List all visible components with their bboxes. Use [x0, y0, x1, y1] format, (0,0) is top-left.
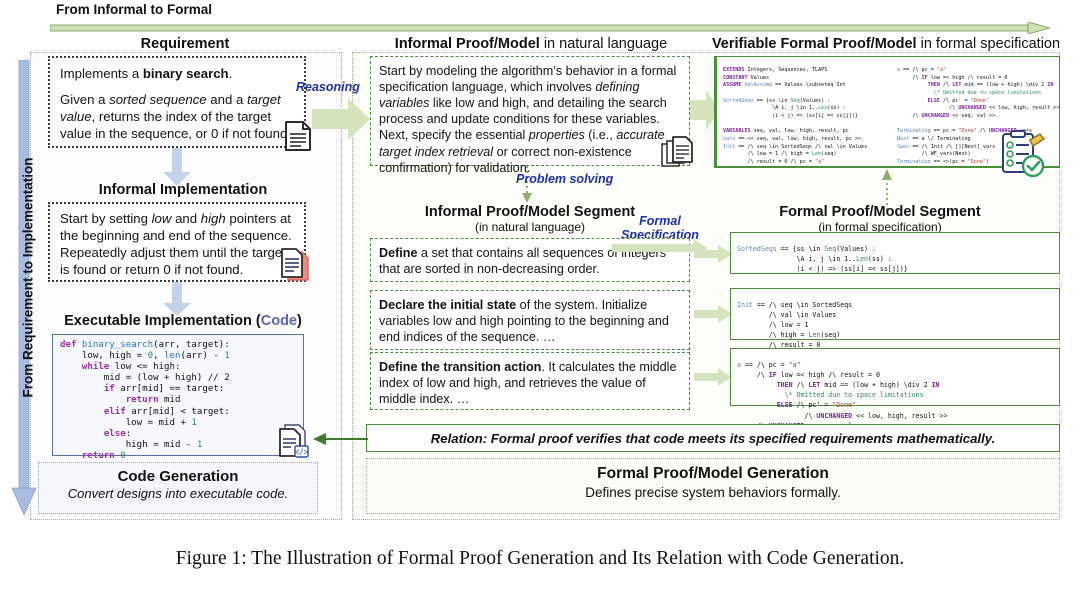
requirement-line1-bold: binary search: [143, 66, 229, 81]
relation-box: Relation: Formal proof verifies that cod…: [366, 424, 1060, 452]
formal-segment-item: a == /\ pc = "a" /\ IF low =< high /\ re…: [730, 348, 1060, 406]
impl-text-pre: Start by setting: [60, 211, 152, 226]
top-arrow-icon: [50, 22, 1050, 34]
problem-solving-label: Problem solving: [516, 172, 613, 186]
formal-generation-title: Formal Proof/Model Generation: [367, 465, 1059, 483]
exec-title-main: Executable Implementation (: [64, 313, 261, 329]
requirement-box: Implements a binary search. Given a sort…: [48, 56, 306, 148]
left-axis-label: From Requirement to Implementation: [21, 78, 36, 478]
verifiable-formal-title: Verifiable Formal Proof/Model in formal …: [700, 36, 1072, 52]
ip-p2-a: Next, specify the essential: [379, 128, 529, 142]
requirement-title: Requirement: [60, 36, 310, 52]
formal-segment-item: SortedSeqs == {ss \in Seq(Values) : \A i…: [730, 232, 1060, 274]
code-generation-title: Code Generation: [39, 468, 317, 485]
verified-clipboard-icon: [1000, 130, 1046, 178]
vf-title-thin: in formal specification: [917, 36, 1060, 52]
down-arrow-impl-to-code-icon: [162, 282, 192, 316]
segment-map-arrow-icon: [694, 368, 732, 386]
document-stack-icon: [280, 248, 310, 282]
seg2-bold: Declare the initial state: [379, 298, 516, 312]
formal-generation-subtitle: Defines precise system behaviors formall…: [367, 485, 1059, 500]
ip-properties: properties: [529, 128, 585, 142]
figure-caption: Figure 1: The Illustration of Formal Pro…: [0, 548, 1080, 570]
vf-title-bold: Verifiable Formal Proof/Model: [712, 36, 917, 52]
formal-segment-code: SortedSeqs == {ss \in Seq(Values) : \A i…: [737, 244, 1053, 275]
informal-implementation-box: Start by setting low and high pointers a…: [48, 202, 306, 282]
informal-proof-title-bold: Informal Proof/Model: [395, 36, 540, 52]
formal-segment-item: Init == /\ seq \in SortedSeqs /\ val \in…: [730, 288, 1060, 340]
formal-generation-box: Formal Proof/Model Generation Defines pr…: [366, 458, 1060, 514]
code-block: def binary_search(arr, target): low, hig…: [52, 334, 304, 456]
informal-segment-item: Declare the initial state of the system.…: [370, 290, 690, 350]
top-banner-label: From Informal to Formal: [56, 2, 212, 17]
informal-segment-item: Define the transition action. It calcula…: [370, 352, 690, 410]
segment-map-arrow-icon: [694, 305, 732, 323]
requirement-line2-mid: and a: [207, 92, 247, 107]
document-icon: [284, 120, 312, 152]
requirement-line1-post: .: [229, 66, 233, 81]
exec-title-end: ): [297, 313, 302, 329]
relation-text: Relation: Formal proof verifies that cod…: [367, 425, 1059, 453]
requirement-line1-pre: Implements a: [60, 66, 143, 81]
formal-segment-code: a == /\ pc = "a" /\ IF low =< high /\ re…: [737, 360, 1053, 432]
python-code: def binary_search(arr, target): low, hig…: [60, 340, 296, 462]
informal-implementation-title: Informal Implementation: [52, 182, 314, 198]
seg3-bold: Define the transition action: [379, 360, 541, 374]
tla-code-left: EXTENDS Integers, Sequences, TLAPS CONST…: [723, 67, 891, 166]
code-document-icon: </>: [278, 424, 310, 458]
down-arrow-req-to-impl-icon: [162, 148, 192, 186]
reasoning-label: Reasoning: [296, 80, 360, 94]
requirement-line2-post: , returns the index of the target value …: [60, 109, 287, 141]
svg-text:</>: </>: [295, 448, 309, 457]
code-generation-box: Code Generation Convert designs into exe…: [38, 462, 318, 514]
formal-segment-header: Formal Proof/Model Segment (in formal sp…: [730, 204, 1030, 234]
ip-p2-b: (i.e.,: [585, 128, 617, 142]
figure-root: From Informal to Formal From Requirement…: [0, 0, 1080, 595]
requirement-sorted-sequence: sorted sequence: [109, 92, 207, 107]
code-generation-subtitle: Convert designs into executable code.: [39, 486, 317, 501]
exec-title-accent: Code: [261, 313, 297, 329]
informal-proof-title-thin: in natural language: [540, 36, 667, 52]
impl-low: low: [152, 211, 172, 226]
executable-implementation-title: Executable Implementation (Code): [40, 313, 326, 329]
formal-segment-title: Formal Proof/Model Segment: [730, 204, 1030, 220]
impl-high: high: [201, 211, 226, 226]
formal-spec-writing-arrow-icon: [612, 240, 708, 256]
informal-proof-box: Start by modeling the algorithm’s behavi…: [370, 56, 690, 166]
informal-proof-title: Informal Proof/Model in natural language: [366, 36, 696, 52]
requirement-line2-pre: Given a: [60, 92, 109, 107]
seg1-bold: Define: [379, 246, 418, 260]
impl-text-mid: and: [171, 211, 200, 226]
document-stack-icon: [660, 136, 694, 168]
reasoning-arrow-icon: [312, 96, 370, 142]
relation-to-code-arrow-icon: [310, 432, 368, 446]
